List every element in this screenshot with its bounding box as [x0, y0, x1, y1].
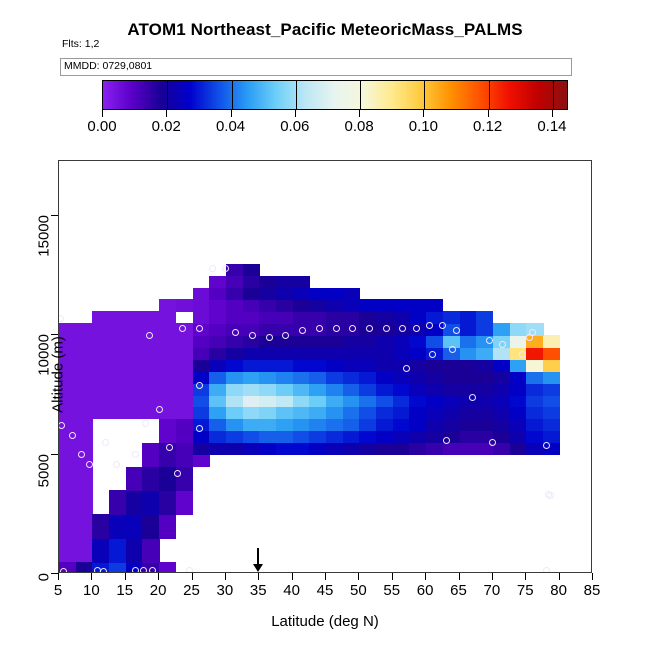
heatmap-cell	[393, 347, 410, 360]
heatmap-cell	[409, 347, 426, 360]
heatmap-cell	[193, 299, 210, 312]
heatmap-cell	[243, 419, 260, 432]
flight-sample-marker	[196, 382, 203, 389]
colorbar-tick	[423, 110, 424, 117]
heatmap-cell	[293, 359, 310, 372]
heatmap-cell	[543, 371, 560, 384]
flight-sample-marker	[149, 567, 156, 573]
heatmap-cell	[293, 443, 310, 456]
flight-sample-marker	[486, 337, 493, 344]
heatmap-cell	[510, 335, 527, 348]
heatmap-cell	[510, 359, 527, 372]
flight-sample-marker	[113, 461, 120, 468]
heatmap-cell	[243, 276, 260, 289]
heatmap-cell	[343, 383, 360, 396]
mmdd-label: MMDD: 0729,0801	[64, 60, 152, 72]
heatmap-cell	[309, 299, 326, 312]
heatmap-cell	[443, 371, 460, 384]
flight-sample-marker	[60, 568, 67, 573]
x-axis-tick-label: 85	[572, 582, 612, 599]
heatmap-cell	[526, 395, 543, 408]
heatmap-cell	[493, 443, 510, 456]
heatmap-cell	[543, 359, 560, 372]
colorbar-tick-label: 0.12	[458, 118, 518, 135]
heatmap-cell	[209, 323, 226, 336]
heatmap-cell	[326, 288, 343, 301]
heatmap-cell	[209, 299, 226, 312]
heatmap-cell	[109, 514, 126, 538]
heatmap-cell	[409, 359, 426, 372]
heatmap-cell	[426, 419, 443, 432]
heatmap-cell	[176, 443, 193, 467]
x-axis-tick	[58, 573, 59, 580]
x-axis-tick	[392, 573, 393, 580]
x-axis-tick	[192, 573, 193, 580]
heatmap-cell	[376, 371, 393, 384]
flight-sample-marker	[156, 406, 163, 413]
heatmap-cell	[259, 288, 276, 301]
heatmap-cell	[359, 299, 376, 312]
heatmap-cell	[226, 276, 243, 289]
x-axis-tick	[358, 573, 359, 580]
heatmap-cell	[276, 371, 293, 384]
heatmap-cell	[293, 288, 310, 301]
flight-sample-marker	[196, 325, 203, 332]
flight-sample-marker	[69, 432, 76, 439]
heatmap-cell	[526, 443, 543, 456]
heatmap-cell	[493, 347, 510, 360]
heatmap-cell	[343, 431, 360, 444]
flight-sample-marker	[142, 420, 149, 427]
colorbar-separator	[167, 81, 168, 109]
heatmap-cell	[226, 299, 243, 312]
heatmap-cell	[142, 490, 159, 514]
heatmap-cell	[393, 419, 410, 432]
heatmap-cell	[76, 562, 93, 573]
heatmap-cell	[176, 490, 193, 514]
heatmap-cell	[259, 347, 276, 360]
flight-sample-marker	[249, 332, 256, 339]
heatmap-cell	[476, 347, 493, 360]
heatmap-cell	[309, 359, 326, 372]
heatmap-cell	[209, 347, 226, 360]
heatmap-cell	[326, 443, 343, 456]
heatmap-cell	[259, 407, 276, 420]
heatmap-cell	[359, 395, 376, 408]
heatmap-cell	[510, 371, 527, 384]
x-axis-tick	[425, 573, 426, 580]
heatmap-cell	[393, 371, 410, 384]
heatmap-cell	[226, 311, 243, 324]
heatmap-cell	[493, 407, 510, 420]
heatmap-cell	[109, 490, 126, 514]
flights-label: Flts: 1,2	[62, 38, 99, 50]
heatmap-cell	[276, 383, 293, 396]
heatmap-cell	[259, 431, 276, 444]
heatmap-cell	[343, 419, 360, 432]
x-axis-tick	[592, 573, 593, 580]
heatmap-cell	[293, 383, 310, 396]
heatmap-cell	[293, 347, 310, 360]
heatmap-cell	[209, 431, 226, 444]
heatmap-cell	[510, 419, 527, 432]
heatmap-cell	[393, 299, 410, 312]
heatmap-cell	[359, 383, 376, 396]
heatmap-cell	[460, 359, 477, 372]
colorbar-tick-label: 0.04	[201, 118, 261, 135]
flight-sample-marker	[246, 399, 253, 406]
colorbar-tick-label: 0.10	[393, 118, 453, 135]
heatmap-cell	[309, 395, 326, 408]
heatmap-cell	[176, 323, 193, 419]
heatmap-cell	[376, 443, 393, 456]
colorbar-separator	[424, 81, 425, 109]
y-axis-tick-label: 15000	[36, 215, 53, 285]
heatmap-cell	[510, 383, 527, 396]
heatmap-cell	[476, 359, 493, 372]
heatmap-cell	[409, 443, 426, 456]
heatmap-cell	[476, 407, 493, 420]
x-axis-tick	[91, 573, 92, 580]
heatmap-cell	[243, 288, 260, 301]
colorbar-tick-label: 0.00	[72, 118, 132, 135]
heatmap-cell	[493, 323, 510, 336]
heatmap-cell	[376, 335, 393, 348]
flight-sample-marker	[179, 325, 186, 332]
x-axis-title: Latitude (deg N)	[0, 613, 650, 630]
heatmap-cell	[92, 514, 109, 538]
heatmap-cell	[226, 383, 243, 396]
heatmap-cell	[209, 276, 226, 289]
heatmap-cell	[326, 419, 343, 432]
heatmap-cell	[343, 288, 360, 301]
heatmap-cell	[226, 359, 243, 372]
heatmap-cell	[159, 299, 176, 323]
heatmap-cell	[209, 288, 226, 301]
flight-sample-marker	[443, 437, 450, 444]
heatmap-cell	[259, 419, 276, 432]
heatmap-cell	[209, 419, 226, 432]
heatmap-cell	[393, 407, 410, 420]
heatmap-cell	[343, 359, 360, 372]
flight-sample-marker	[547, 492, 554, 499]
heatmap-cell	[460, 407, 477, 420]
heatmap-cell	[543, 383, 560, 396]
heatmap-cell	[443, 311, 460, 324]
heatmap-cell	[109, 562, 126, 573]
heatmap-cell	[476, 383, 493, 396]
flight-sample-marker	[146, 332, 153, 339]
heatmap-cell	[209, 335, 226, 348]
heatmap-cell	[226, 395, 243, 408]
x-axis-tick	[125, 573, 126, 580]
heatmap-cell	[159, 419, 176, 443]
heatmap-cell	[309, 383, 326, 396]
heatmap-cell	[276, 395, 293, 408]
heatmap-cell	[209, 371, 226, 384]
heatmap-cell	[359, 371, 376, 384]
heatmap-cell	[343, 335, 360, 348]
heatmap-cell	[259, 299, 276, 312]
heatmap-cell	[259, 276, 276, 289]
heatmap-cell	[276, 407, 293, 420]
heatmap-cell	[226, 419, 243, 432]
heatmap-cell	[226, 371, 243, 384]
heatmap-cell	[460, 323, 477, 336]
heatmap-cell	[359, 347, 376, 360]
heatmap-cell	[393, 335, 410, 348]
heatmap-cell	[193, 395, 210, 408]
heatmap-cell	[376, 311, 393, 324]
heatmap-cell	[309, 311, 326, 324]
flight-sample-marker	[366, 325, 373, 332]
x-axis-tick	[292, 573, 293, 580]
heatmap-cell	[376, 299, 393, 312]
heatmap-cell	[359, 443, 376, 456]
colorbar-tick-label: 0.08	[329, 118, 389, 135]
flight-sample-marker	[102, 439, 109, 446]
heatmap-cell	[142, 467, 159, 491]
heatmap-cell	[409, 431, 426, 444]
heatmap-cell	[309, 419, 326, 432]
heatmap-cell	[276, 288, 293, 301]
heatmap-cell	[309, 431, 326, 444]
heatmap-cell	[209, 407, 226, 420]
heatmap-plot-area	[58, 160, 592, 573]
heatmap-cell	[393, 431, 410, 444]
flight-sample-marker	[403, 365, 410, 372]
heatmap-cell	[359, 431, 376, 444]
flight-sample-marker	[132, 567, 139, 573]
heatmap-cell	[326, 299, 343, 312]
heatmap-cell	[276, 359, 293, 372]
flight-sample-marker	[349, 325, 356, 332]
flight-sample-marker	[543, 442, 550, 449]
plot-canvas: ATOM1 Northeast_Pacific MeteoricMass_PAL…	[0, 0, 650, 650]
heatmap-cell	[259, 359, 276, 372]
heatmap-cell	[510, 443, 527, 456]
heatmap-cell	[326, 431, 343, 444]
heatmap-cell	[510, 431, 527, 444]
heatmap-cell	[209, 395, 226, 408]
heatmap-cell	[176, 419, 193, 443]
heatmap-cell	[443, 359, 460, 372]
heatmap-cell	[543, 395, 560, 408]
flight-sample-marker	[166, 444, 173, 451]
flight-sample-marker	[132, 451, 139, 458]
x-axis-tick	[492, 573, 493, 580]
heatmap-cell	[510, 407, 527, 420]
heatmap-cell	[460, 311, 477, 324]
heatmap-cell	[409, 311, 426, 324]
colorbar-separator	[489, 81, 490, 109]
heatmap-cell	[376, 407, 393, 420]
flight-sample-marker	[333, 325, 340, 332]
heatmap-cell	[293, 299, 310, 312]
heatmap-cell	[126, 538, 143, 562]
heatmap-cell	[309, 443, 326, 456]
colorbar-separator	[232, 81, 233, 109]
heatmap-cell	[209, 359, 226, 372]
colorbar-tick-label: 0.14	[522, 118, 582, 135]
heatmap-cell	[159, 323, 176, 419]
heatmap-cell	[193, 431, 210, 444]
heatmap-cell	[326, 395, 343, 408]
heatmap-cell	[376, 383, 393, 396]
heatmap-cell	[443, 407, 460, 420]
heatmap-cell	[359, 419, 376, 432]
heatmap-cell	[493, 359, 510, 372]
heatmap-cell	[426, 407, 443, 420]
heatmap-cell	[426, 299, 443, 312]
colorbar-tick	[231, 110, 232, 117]
heatmap-cell	[193, 443, 210, 456]
heatmap-cell	[293, 431, 310, 444]
heatmap-cell	[193, 359, 210, 372]
heatmap-cell	[376, 431, 393, 444]
heatmap-cell	[443, 443, 460, 456]
heatmap-cell	[293, 419, 310, 432]
heatmap-cell	[409, 419, 426, 432]
heatmap-cell	[126, 311, 143, 419]
heatmap-cell	[159, 490, 176, 514]
heatmap-cell	[293, 407, 310, 420]
heatmap-cell	[343, 311, 360, 324]
heatmap-cell	[526, 383, 543, 396]
heatmap-cell	[209, 443, 226, 456]
colorbar-gradient	[103, 81, 567, 109]
heatmap-cell	[293, 335, 310, 348]
heatmap-cell	[359, 359, 376, 372]
heatmap-cell	[543, 407, 560, 420]
colorbar-tick	[359, 110, 360, 117]
heatmap-cell	[426, 443, 443, 456]
heatmap-cell	[159, 514, 176, 538]
flight-sample-marker	[196, 425, 203, 432]
heatmap-cell	[159, 562, 176, 573]
flight-sample-marker	[86, 461, 93, 468]
heatmap-cell	[526, 347, 543, 360]
heatmap-cell	[76, 419, 93, 573]
heatmap-cell	[460, 371, 477, 384]
x-axis-tick	[158, 573, 159, 580]
colorbar-tick	[102, 110, 103, 117]
heatmap-cell	[343, 443, 360, 456]
y-axis-title: Altitude (m)	[50, 295, 67, 455]
heatmap-cell	[409, 299, 426, 312]
colorbar	[102, 80, 568, 110]
heatmap-cell	[426, 359, 443, 372]
heatmap-cell	[109, 538, 126, 562]
heatmap-cell	[209, 383, 226, 396]
heatmap-cell	[259, 395, 276, 408]
heatmap-cell	[409, 407, 426, 420]
heatmap-cell	[142, 443, 159, 467]
heatmap-cell	[376, 347, 393, 360]
x-axis-tick	[559, 573, 560, 580]
heatmap-cell	[276, 276, 293, 289]
x-axis-tick	[258, 573, 259, 580]
heatmap-cell	[343, 407, 360, 420]
flight-sample-marker	[100, 568, 107, 573]
colorbar-tick	[166, 110, 167, 117]
heatmap-cell	[243, 383, 260, 396]
colorbar-tick-label: 0.06	[265, 118, 325, 135]
flight-sample-marker	[140, 567, 147, 573]
heatmap-cell	[259, 311, 276, 324]
heatmap-cell	[326, 407, 343, 420]
heatmap-cell	[476, 371, 493, 384]
heatmap-cell	[226, 288, 243, 301]
heatmap-cell	[460, 335, 477, 348]
flight-sample-marker	[383, 325, 390, 332]
heatmap-cell	[193, 311, 210, 324]
colorbar-separator	[296, 81, 297, 109]
flight-sample-marker	[316, 325, 323, 332]
heatmap-cell	[359, 311, 376, 324]
heatmap-cell	[409, 371, 426, 384]
heatmap-cell	[426, 395, 443, 408]
flight-sample-marker	[209, 265, 216, 272]
heatmap-cell	[243, 371, 260, 384]
heatmap-cell	[243, 443, 260, 456]
heatmap-cell	[460, 419, 477, 432]
heatmap-cell	[276, 443, 293, 456]
heatmap-cell	[293, 276, 310, 289]
flight-sample-marker	[413, 325, 420, 332]
heatmap-cell	[393, 443, 410, 456]
colorbar-tick	[552, 110, 553, 117]
heatmap-cell	[543, 335, 560, 348]
heatmap-cell	[526, 371, 543, 384]
heatmap-cell	[193, 288, 210, 301]
heatmap-cell	[209, 311, 226, 324]
heatmap-cell	[326, 311, 343, 324]
heatmap-cell	[243, 431, 260, 444]
heatmap-cell	[126, 490, 143, 514]
heatmap-cell	[476, 419, 493, 432]
heatmap-cell	[476, 323, 493, 336]
heatmap-cell	[510, 323, 527, 336]
heatmap-cell	[126, 514, 143, 538]
heatmap-cell	[443, 419, 460, 432]
heatmap-cell	[226, 407, 243, 420]
heatmap-cell	[142, 514, 159, 538]
heatmap-cell	[159, 467, 176, 491]
colorbar-separator	[553, 81, 554, 109]
heatmap-cell	[76, 323, 93, 419]
heatmap-cell	[426, 371, 443, 384]
heatmap-cell	[276, 299, 293, 312]
heatmap-cell	[376, 419, 393, 432]
heatmap-cell	[493, 371, 510, 384]
flight-sample-marker	[399, 325, 406, 332]
heatmap-cell	[293, 395, 310, 408]
heatmap-cell	[343, 395, 360, 408]
heatmap-cell	[309, 347, 326, 360]
heatmap-cell	[193, 407, 210, 420]
heatmap-cell	[109, 311, 126, 419]
heatmap-cell	[326, 371, 343, 384]
x-axis-tick	[525, 573, 526, 580]
heatmap-cell	[409, 383, 426, 396]
y-axis-tick-label: 0	[36, 573, 53, 643]
heatmap-cell	[243, 311, 260, 324]
heatmap-cell	[510, 395, 527, 408]
heatmap-cell	[476, 311, 493, 324]
heatmap-cell	[259, 371, 276, 384]
page-title: ATOM1 Northeast_Pacific MeteoricMass_PAL…	[0, 20, 650, 40]
